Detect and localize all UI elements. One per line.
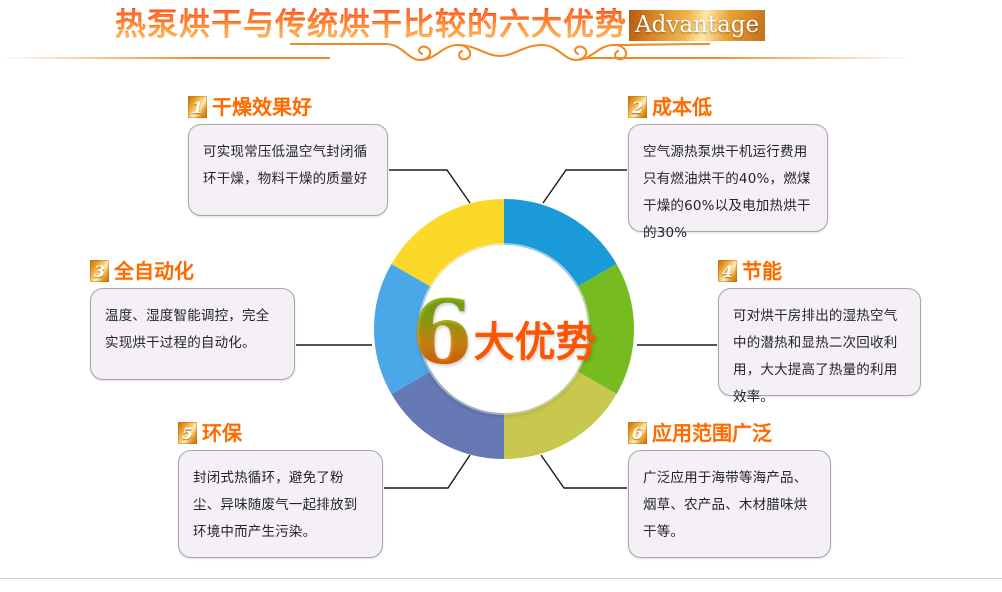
number-badge-icon: 1 — [188, 96, 207, 118]
item-body-4: 可对烘干房排出的湿热空气中的潜热和显热二次回收利用，大大提高了热量的利用效率。 — [733, 303, 906, 411]
donut-segment-2[interactable] — [598, 275, 612, 383]
item-title-4: 节能 — [742, 259, 782, 283]
item-box-5: 封闭式热循环，避免了粉尘、异味随废气一起排放到环境中而产生污染。 — [178, 450, 383, 558]
item-title-6: 应用范围广泛 — [652, 421, 772, 445]
number-badge-icon: 4 — [718, 260, 737, 282]
item-header-1: 1 干燥效果好 — [188, 94, 388, 120]
title-row: 热泵烘干与传统烘干比较的六大优势 Advantage — [115, 6, 765, 44]
advantage-item-6[interactable]: 6 应用范围广泛 广泛应用于海带等海产品、烟草、农产品、木材腊味烘干等。 — [628, 420, 831, 558]
number-badge-icon: 2 — [628, 96, 647, 118]
item-box-2: 空气源热泵烘干机运行费用只有燃油烘干的40%，燃煤干燥的60%以及电加热烘干的3… — [628, 124, 828, 232]
item-title-2: 成本低 — [652, 95, 712, 119]
item-body-3: 温度、湿度智能调控，完全实现烘干过程的自动化。 — [105, 303, 280, 357]
advantage-item-5[interactable]: 5 环保 封闭式热循环，避免了粉尘、异味随废气一起排放到环境中而产生污染。 — [178, 420, 383, 558]
item-header-4: 4 节能 — [718, 258, 921, 284]
donut-svg — [368, 193, 640, 465]
footer-divider — [0, 578, 1002, 579]
item-header-5: 5 环保 — [178, 420, 383, 446]
header: 热泵烘干与传统烘干比较的六大优势 Advantage — [0, 0, 1002, 72]
donut-segment-5[interactable] — [396, 275, 410, 383]
item-title-5: 环保 — [202, 421, 242, 445]
advantage-badge: Advantage — [629, 10, 765, 41]
item-body-1: 可实现常压低温空气封闭循环干燥，物料干燥的质量好 — [203, 139, 373, 193]
advantage-item-3[interactable]: 3 全自动化 温度、湿度智能调控，完全实现烘干过程的自动化。 — [90, 258, 295, 380]
header-rule-left — [0, 57, 330, 59]
advantage-item-1[interactable]: 1 干燥效果好 可实现常压低温空气封闭循环干燥，物料干燥的质量好 — [188, 94, 388, 216]
item-header-6: 6 应用范围广泛 — [628, 420, 831, 446]
item-box-1: 可实现常压低温空气封闭循环干燥，物料干燥的质量好 — [188, 124, 388, 216]
number-badge-icon: 3 — [90, 260, 109, 282]
item-box-4: 可对烘干房排出的湿热空气中的潜热和显热二次回收利用，大大提高了热量的利用效率。 — [718, 288, 921, 396]
item-title-3: 全自动化 — [114, 259, 194, 283]
page-title: 热泵烘干与传统烘干比较的六大优势 — [115, 6, 627, 44]
item-header-3: 3 全自动化 — [90, 258, 295, 284]
advantage-item-2[interactable]: 2 成本低 空气源热泵烘干机运行费用只有燃油烘干的40%，燃煤干燥的60%以及电… — [628, 94, 828, 232]
item-body-5: 封闭式热循环，避免了粉尘、异味随废气一起排放到环境中而产生污染。 — [193, 465, 368, 546]
item-box-6: 广泛应用于海带等海产品、烟草、农产品、木材腊味烘干等。 — [628, 450, 831, 558]
donut-hole — [420, 245, 588, 413]
item-title-1: 干燥效果好 — [212, 95, 312, 119]
number-badge-icon: 5 — [178, 422, 197, 444]
item-box-3: 温度、湿度智能调控，完全实现烘干过程的自动化。 — [90, 288, 295, 380]
item-body-2: 空气源热泵烘干机运行费用只有燃油烘干的40%，燃煤干燥的60%以及电加热烘干的3… — [643, 139, 813, 247]
donut-chart: 6 大优势 — [368, 193, 640, 465]
item-body-6: 广泛应用于海带等海产品、烟草、农产品、木材腊味烘干等。 — [643, 465, 816, 546]
item-header-2: 2 成本低 — [628, 94, 828, 120]
number-badge-icon: 6 — [628, 422, 647, 444]
infographic-root: 热泵烘干与传统烘干比较的六大优势 Advantage — [0, 0, 1002, 592]
advantage-item-4[interactable]: 4 节能 可对烘干房排出的湿热空气中的潜热和显热二次回收利用，大大提高了热量的利… — [718, 258, 921, 396]
